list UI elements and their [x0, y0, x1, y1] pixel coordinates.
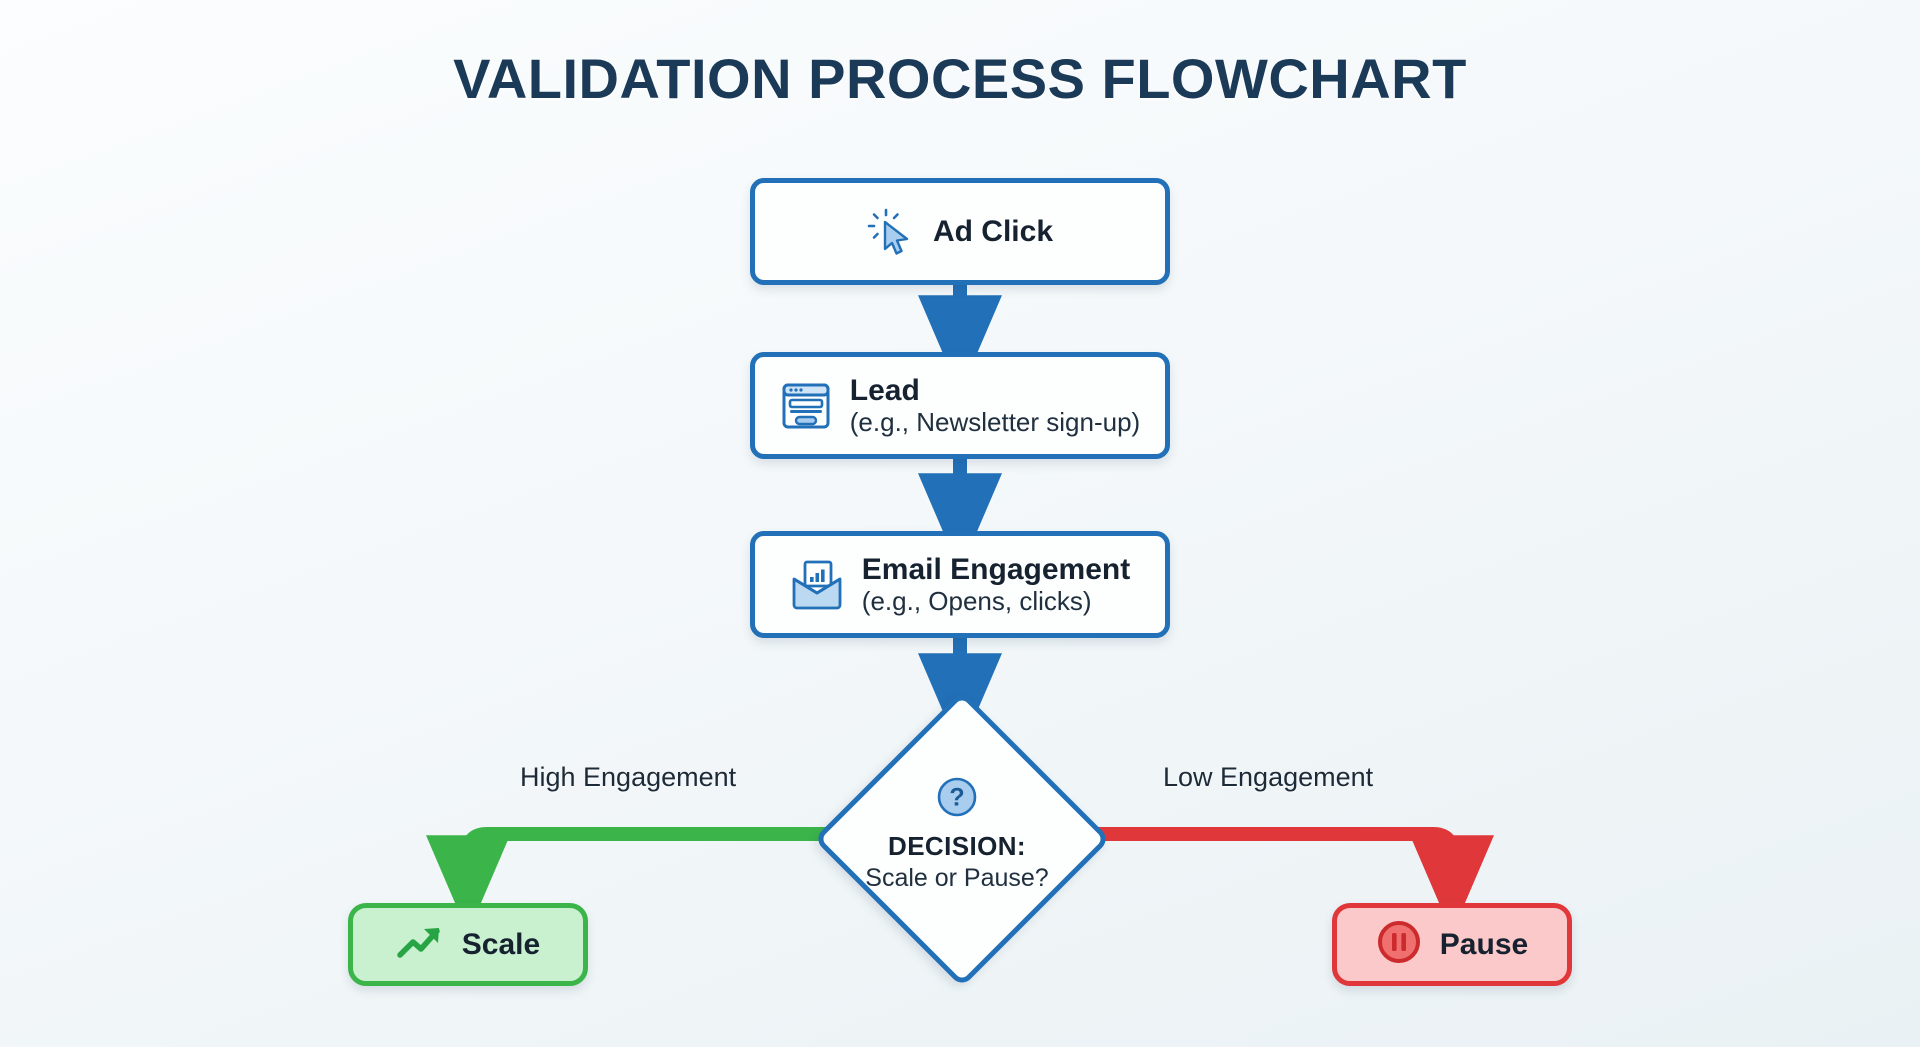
- question-mark-icon: ?: [936, 776, 978, 823]
- edge-label-low-engagement: Low Engagement: [1163, 762, 1373, 793]
- node-decision[interactable]: ? DECISION: Scale or Pause?: [828, 705, 1086, 963]
- node-email-engagement-sublabel: (e.g., Opens, clicks): [862, 587, 1130, 616]
- svg-text:?: ?: [949, 783, 964, 811]
- email-analytics-icon: [790, 560, 844, 610]
- flowchart-canvas: VALIDATION PROCESS FLOWCHART: [0, 0, 1920, 1047]
- connector-decision-to-scale: [468, 834, 828, 880]
- node-pause[interactable]: Pause: [1332, 903, 1572, 986]
- node-scale-label: Scale: [462, 928, 540, 962]
- web-form-icon: [780, 380, 832, 432]
- node-email-engagement[interactable]: Email Engagement (e.g., Opens, clicks): [750, 531, 1170, 638]
- decision-sublabel: Scale or Pause?: [865, 864, 1048, 893]
- node-scale[interactable]: Scale: [348, 903, 588, 986]
- node-ad-click-label: Ad Click: [933, 215, 1053, 249]
- node-pause-label: Pause: [1440, 928, 1528, 962]
- node-lead-sublabel: (e.g., Newsletter sign-up): [850, 408, 1140, 437]
- trending-up-icon: [396, 922, 444, 967]
- pause-circle-icon: [1376, 919, 1422, 970]
- decision-content: ? DECISION: Scale or Pause?: [828, 705, 1086, 963]
- node-lead-label: Lead: [850, 374, 1140, 408]
- node-lead[interactable]: Lead (e.g., Newsletter sign-up): [750, 352, 1170, 459]
- edge-label-high-engagement: High Engagement: [520, 762, 736, 793]
- connector-decision-to-pause: [1086, 834, 1452, 880]
- node-ad-click[interactable]: Ad Click: [750, 178, 1170, 285]
- cursor-click-icon: [867, 208, 915, 256]
- node-email-engagement-label: Email Engagement: [862, 553, 1130, 587]
- decision-label: DECISION:: [888, 831, 1026, 862]
